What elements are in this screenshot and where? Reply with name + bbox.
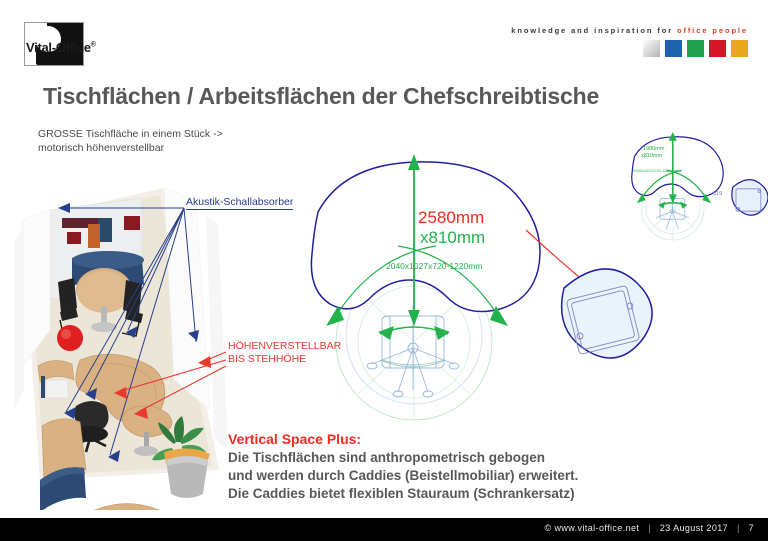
tagline: knowledge and inspiration for office peo…: [511, 26, 748, 35]
label-hoehenverstellbar-line1: HÖHENVERSTELLBAR: [228, 340, 341, 352]
acoustic-panel-3: [88, 224, 100, 248]
logo-wordmark: Vital-Office®: [26, 40, 96, 55]
footer-bar: © www.vital-office.net | 23 August 2017 …: [0, 518, 768, 541]
footer-date: 23 August 2017: [660, 523, 728, 533]
office-3d-render: [14, 180, 232, 510]
acoustic-panel-5: [124, 216, 140, 230]
label-hoehenverstellbar-line2: BIS STEHHÖHE: [228, 353, 306, 365]
cad-technical-drawing: [232, 120, 768, 440]
vertical-space-plus-line2: und werden durch Caddies (Beistellmobili…: [228, 467, 578, 485]
footer-separator-2: |: [731, 523, 746, 533]
label-hoehenverstellbar: HÖHENVERSTELLBAR BIS STEHHÖHE: [228, 340, 341, 367]
label-akustik-schallabsorber: Akustik-Schallabsorber: [186, 196, 293, 210]
dimension-main-depth: x810mm: [420, 228, 485, 248]
footer-page-number: 7: [749, 523, 754, 533]
swatch-yellow: [731, 40, 748, 57]
dimension-main-width: 2580mm: [418, 208, 484, 228]
sitting-ball: [57, 325, 83, 351]
vertical-space-plus-line3: Die Caddies bietet flexiblen Stauraum (S…: [228, 485, 578, 503]
dimension-inset-width: 1980mm: [643, 146, 664, 152]
brand-swatches: [643, 40, 748, 57]
footer-copyright: ©: [544, 523, 551, 533]
plant: [152, 416, 210, 498]
dimension-main-detail: 2040x1027x720-1220mm: [386, 261, 482, 271]
note-grosse-tischflaeche: GROSSE Tischfläche in einem Stück -> mot…: [38, 127, 228, 156]
swatch-gray: [643, 40, 660, 57]
swatch-red: [709, 40, 726, 57]
slide-page: Vital-Office® knowledge and inspiration …: [0, 0, 768, 541]
acoustic-panel-2: [98, 218, 112, 242]
swatch-green: [687, 40, 704, 57]
vertical-space-plus-heading: Vertical Space Plus:: [228, 430, 578, 449]
footer-separator-1: |: [642, 523, 657, 533]
tagline-main: knowledge and inspiration for: [511, 26, 677, 35]
tagline-accent: office people: [677, 26, 748, 35]
swatch-blue: [665, 40, 682, 57]
caddy-number-label: 819: [713, 191, 722, 197]
dimension-inset-detail: 2040x1027x720-1220mm: [633, 168, 678, 173]
logo-wordmark-text: Vital-Office: [26, 40, 91, 55]
vertical-space-plus-block: Vertical Space Plus: Die Tischflächen si…: [228, 430, 578, 502]
footer-site: www.vital-office.net: [554, 523, 639, 533]
acoustic-panel-4: [67, 232, 81, 244]
dimension-inset-depth: x810mm: [641, 153, 662, 159]
logo-registered-mark: ®: [91, 42, 96, 49]
vertical-space-plus-line1: Die Tischflächen sind anthropometrisch g…: [228, 449, 578, 467]
footer-text: © www.vital-office.net | 23 August 2017 …: [544, 523, 754, 533]
caddy-detail: [562, 269, 652, 358]
page-title: Tischflächen / Arbeitsflächen der Chefsc…: [43, 83, 599, 110]
